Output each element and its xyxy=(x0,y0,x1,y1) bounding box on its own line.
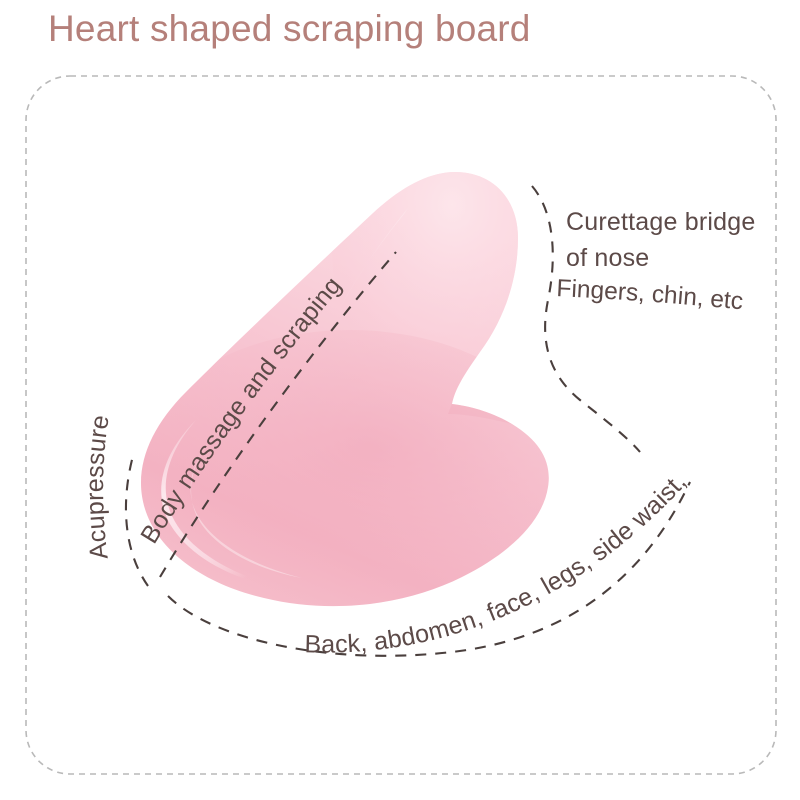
callout-label-fingers: Fingers, chin, etc xyxy=(556,275,744,315)
infographic-canvas: Heart shaped scraping board xyxy=(0,0,800,800)
callout-label-curettage-line1: Curettage bridge xyxy=(566,208,755,236)
callout-label-acupressure: Acupressure xyxy=(81,413,115,561)
callout-label-curettage-line2: of nose xyxy=(566,244,649,272)
gua-sha-stone xyxy=(135,100,572,610)
infographic-scene: Body massage and scraping Acupressure Ba… xyxy=(0,0,800,800)
